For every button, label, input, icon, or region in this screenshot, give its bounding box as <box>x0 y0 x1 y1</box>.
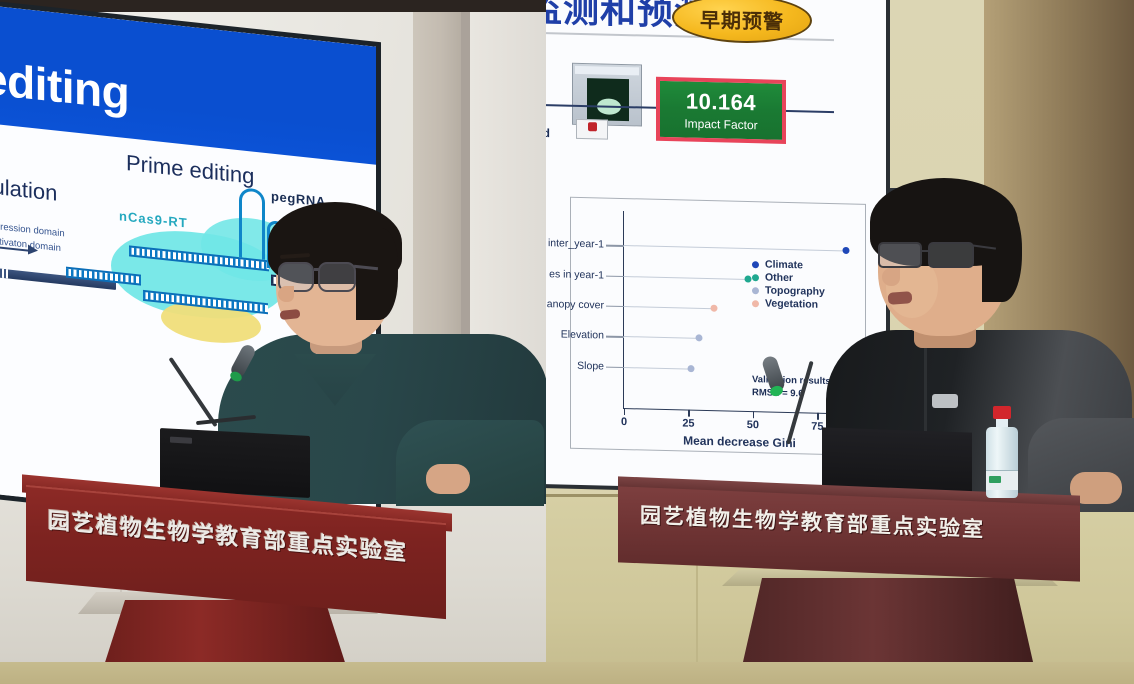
chart-guide-line <box>624 276 748 280</box>
screenshot-root: editing egulation Prime editing Suppress… <box>0 0 1134 684</box>
laptop-logo <box>170 437 192 444</box>
slide-subtitle-left: egulation <box>0 171 57 207</box>
bottom-border-band <box>0 662 1134 684</box>
chart-legend-item: Topography <box>752 284 825 298</box>
chart-x-tick-label: 50 <box>747 419 759 431</box>
left-podium: 园艺植物生物学教育部重点实验室 <box>8 492 478 684</box>
glasses-icon <box>878 242 922 268</box>
right-podium: 园艺植物生物学教育部重点实验室 <box>618 486 1088 684</box>
chart-y-tick <box>606 245 624 247</box>
chart-x-tick <box>624 408 625 415</box>
chart-guide-line <box>624 306 714 309</box>
glasses-lens-right <box>318 262 356 292</box>
impact-factor-value: 10.164 <box>686 89 756 117</box>
impact-factor-box: 10.164 Impact Factor <box>656 77 786 144</box>
microphone-base-stem <box>196 415 256 425</box>
chart-legend-swatch <box>752 261 759 268</box>
chart-legend-label: Topography <box>765 284 825 297</box>
chart-legend-item: Climate <box>752 258 825 272</box>
right-speaker-nose <box>882 268 900 286</box>
promoter-arrow-head <box>28 245 38 256</box>
chart-legend-label: Climate <box>765 258 803 271</box>
suppression-domain-label: Suppression domain <box>0 219 65 239</box>
journal-logo-icon <box>576 119 608 140</box>
left-photo-panel: editing egulation Prime editing Suppress… <box>0 0 546 684</box>
impact-factor-caption: Impact Factor <box>684 116 757 132</box>
right-speaker-hair-side <box>982 204 1022 302</box>
glasses-bridge <box>922 250 928 252</box>
bottle-cap <box>993 406 1011 419</box>
glasses-bridge <box>314 268 320 271</box>
chart-data-point <box>711 305 718 312</box>
right-slide-side-text: und <box>546 126 550 141</box>
ncas9-rt-label: nCas9-RT <box>119 208 188 230</box>
chart-y-tick-label: Elevation <box>561 329 604 342</box>
chart-x-tick <box>753 411 754 418</box>
chart-points <box>624 211 855 217</box>
chart-guide-line <box>624 245 846 251</box>
chart-y-tick-label: es in year-1 <box>549 268 604 281</box>
chart-x-axis: 0255075 <box>624 211 855 217</box>
chart-y-tick <box>606 336 624 338</box>
chart-x-tick-label: 0 <box>621 416 627 428</box>
chart-data-point <box>695 335 702 342</box>
left-speaker-hand <box>426 464 470 494</box>
chart-data-point <box>744 275 751 282</box>
chart-legend-swatch <box>752 274 759 281</box>
early-warning-badge-label: 早期预警 <box>700 3 784 34</box>
chart-y-axis: inter_year-1es in year-1anopy coverEleva… <box>624 211 855 217</box>
slide-subtitle-right: Prime editing <box>126 150 254 190</box>
left-speaker-nose <box>278 286 294 302</box>
chart-guide-line <box>624 336 699 339</box>
chart-y-tick-label: inter_year-1 <box>548 238 604 251</box>
chart-y-tick <box>606 366 624 368</box>
chart-legend-item: Other <box>752 271 825 285</box>
chart-legend-swatch <box>752 287 759 294</box>
chart-legend-swatch <box>752 300 759 307</box>
chart-y-tick <box>606 306 624 308</box>
right-microphone <box>760 356 840 448</box>
right-speaker-mouth <box>888 291 913 305</box>
glasses-lens-right <box>928 242 974 268</box>
jacket-chest-logo <box>932 394 958 408</box>
microphone-gooseneck <box>786 361 814 445</box>
thumbnail-titlebar <box>575 66 639 76</box>
chart-y-tick <box>606 275 624 277</box>
left-microphone <box>196 344 266 444</box>
chart-guide-line <box>624 367 691 369</box>
chart-y-tick-label: anopy cover <box>547 298 604 311</box>
water-bottle <box>986 406 1018 498</box>
chart-x-tick-label: 25 <box>682 417 694 429</box>
slide-thumbnail-screenshot <box>572 63 642 127</box>
left-speaker-hair-side <box>356 228 398 320</box>
bottle-label-mark <box>989 476 1001 483</box>
gene-ticks <box>0 266 8 278</box>
slide-title: editing <box>0 51 129 121</box>
chart-legend-item: Vegetation <box>752 297 825 311</box>
chart-legend-label: Vegetation <box>765 297 818 310</box>
chart-legend-label: Other <box>765 271 793 284</box>
chart-data-point <box>688 365 695 372</box>
chart-y-tick-label: Slope <box>577 360 604 373</box>
journal-logo-mark <box>588 122 597 131</box>
chart-legend: ClimateOtherTopographyVegetation <box>752 258 825 312</box>
right-photo-panel: 监测和预测 早期预警 und 10.164 Impact Factor <box>546 0 1134 684</box>
chart-x-tick <box>688 410 689 417</box>
